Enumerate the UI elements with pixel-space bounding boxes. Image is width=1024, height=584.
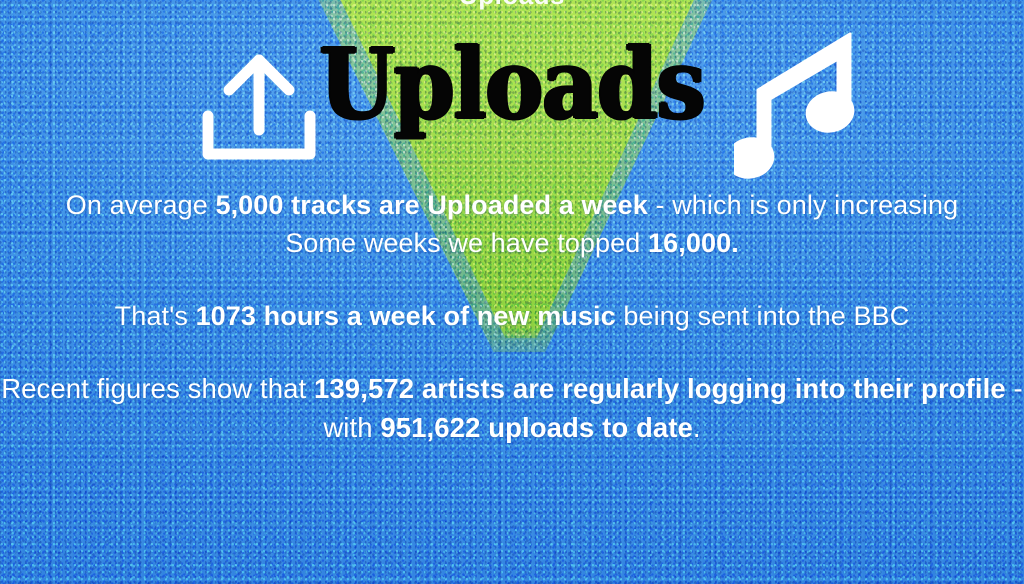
p3-bold-uploads: 951,622 uploads to date (380, 412, 693, 443)
p1-line1-bold: 5,000 tracks are Uploaded a week (215, 190, 647, 220)
p1-line2-bold: 16,000. (648, 228, 739, 258)
p2-suffix: being sent into the BBC (616, 301, 910, 331)
p3-bold-artists: 139,572 artists are regularly logging in… (314, 373, 1006, 404)
header-row: Uploads (0, 8, 1024, 178)
body-text-block: On average 5,000 tracks are Uploaded a w… (0, 186, 1024, 447)
paragraph-hours-of-music: That's 1073 hours a week of new music be… (0, 297, 1024, 335)
p1-line2-prefix: Some weeks we have topped (285, 228, 648, 258)
content-layer: Uploads Uploads (0, 0, 1024, 584)
music-note-icon (734, 6, 864, 182)
infographic-canvas: Uploads Uploads (0, 0, 1024, 584)
p2-bold: 1073 hours a week of new music (196, 301, 616, 331)
p1-line1-suffix: - which is only increasing (648, 190, 958, 220)
p2-prefix: That's (115, 301, 196, 331)
p1-line1-prefix: On average (66, 190, 216, 220)
paragraph-uploads-per-week: On average 5,000 tracks are Uploaded a w… (0, 186, 1024, 263)
paragraph-artists-and-uploads: Recent figures show that 139,572 artists… (0, 369, 1024, 447)
p3-prefix: Recent figures show that (1, 373, 314, 404)
p3-suffix: . (693, 412, 701, 443)
